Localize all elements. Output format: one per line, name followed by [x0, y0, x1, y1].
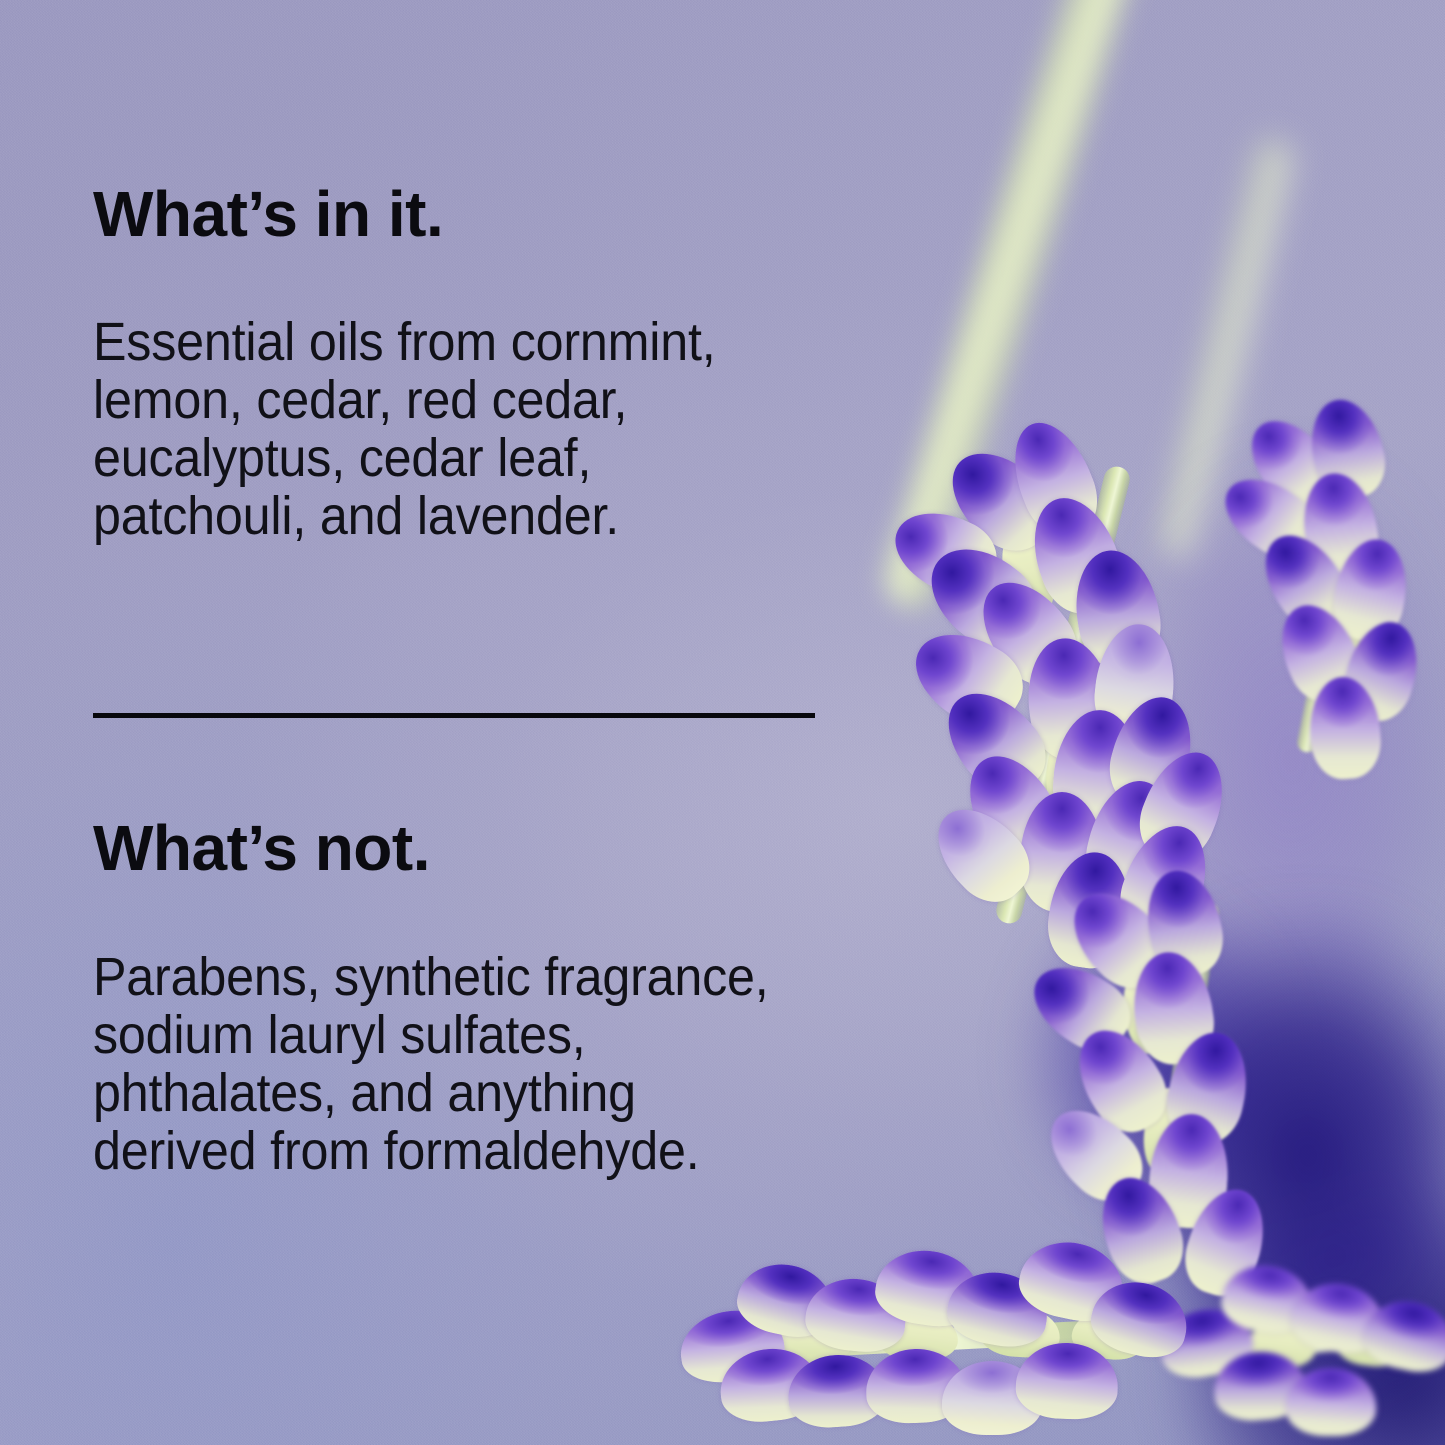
text-content: What’s in it. Essential oils from cornmi…	[93, 0, 1053, 1445]
heading-whats-in-it: What’s in it.	[93, 182, 443, 246]
body-whats-in-it: Essential oils from cornmint, lemon, ced…	[93, 313, 716, 545]
product-info-graphic: What’s in it. Essential oils from cornmi…	[0, 0, 1445, 1445]
section-divider	[93, 713, 815, 718]
heading-whats-not: What’s not.	[93, 816, 430, 880]
body-whats-not: Parabens, synthetic fragrance, sodium la…	[93, 948, 769, 1180]
